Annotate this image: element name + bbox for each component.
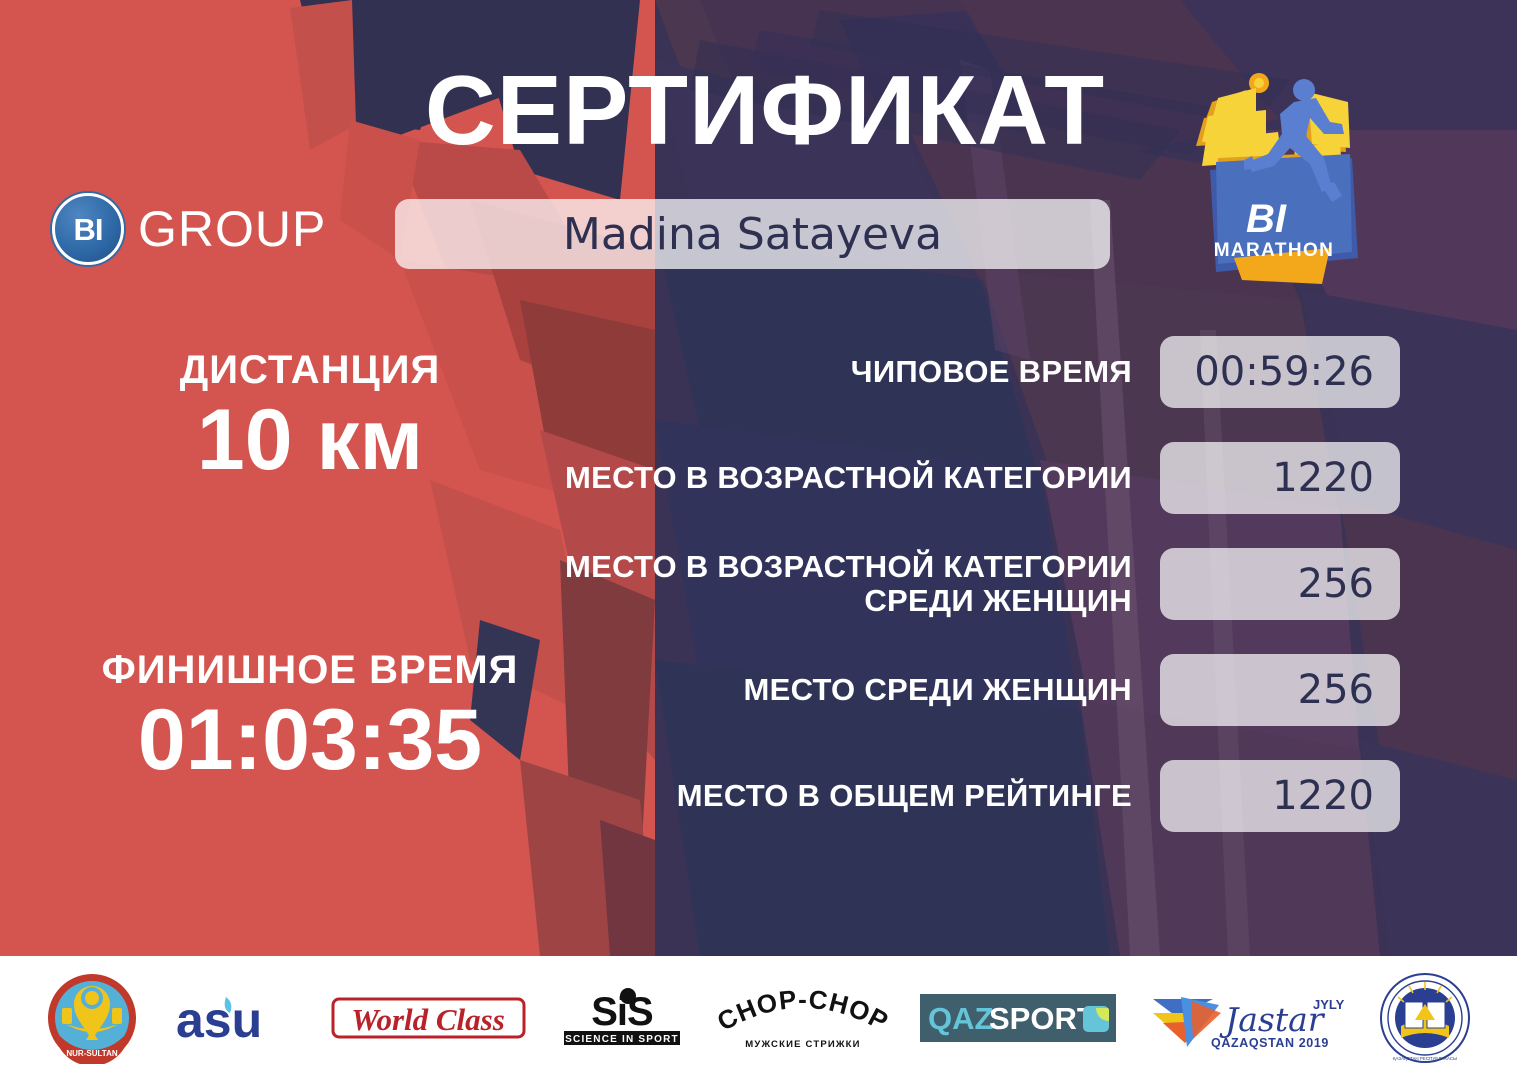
sponsor-nur-sultan-text: NUR-SULTAN [66, 1049, 117, 1058]
sponsor-qazsport-qaz-text: QAZ [928, 1001, 994, 1036]
bi-badge-icon: BI [52, 193, 124, 265]
sponsor-asu-text: asu [176, 992, 262, 1048]
sponsor-chop-chop-subtext: МУЖСКИЕ СТРИЖКИ [745, 1039, 860, 1050]
stat-row-chip-time: ЧИПОВОЕ ВРЕМЯ 00:59:26 [520, 336, 1400, 408]
sponsor-logo-world-class: World Class [331, 991, 526, 1045]
bi-badge-label: BI [74, 214, 103, 245]
distance-block: ДИСТАНЦИЯ 10 км [60, 348, 560, 483]
sponsor-jyly-text: JYLY [1313, 997, 1345, 1012]
participant-name: Madina Satayeva [563, 209, 942, 260]
sponsor-logo-ministry-of-culture-and-sport: ҚАЗАҚСТАН РЕСПУБЛИКАСЫ [1379, 972, 1471, 1064]
sponsor-jastar-subtext: QAZAQSTAN 2019 [1211, 1036, 1329, 1050]
bi-group-word: GROUP [138, 200, 326, 258]
sponsor-ministry-text: ҚАЗАҚСТАН РЕСПУБЛИКАСЫ [1393, 1056, 1457, 1061]
certificate-card: BI GROUP СЕРТИФИКАТ Madina Satayeva [0, 0, 1517, 1080]
bi-marathon-bi-text: BI [1246, 197, 1287, 241]
stats-list: ЧИПОВОЕ ВРЕМЯ 00:59:26 МЕСТО В ВОЗРАСТНО… [520, 336, 1400, 832]
page-title: СЕРТИФИКАТ [395, 61, 1135, 159]
finish-time-block: ФИНИШНОЕ ВРЕМЯ 01:03:35 [60, 648, 560, 783]
stat-label: МЕСТО В ОБЩЕМ РЕЙТИНГЕ [520, 779, 1160, 813]
stat-value: 1220 [1272, 455, 1374, 501]
distance-label: ДИСТАНЦИЯ [60, 348, 560, 393]
sponsor-strip: NUR-SULTAN asu World Class SiS SC [0, 956, 1517, 1080]
stat-value-pill: 1220 [1160, 760, 1400, 832]
participant-name-pill: Madina Satayeva [395, 199, 1110, 269]
stat-value: 00:59:26 [1194, 349, 1374, 395]
sponsor-logo-qazsport: QAZ SPORT [920, 994, 1116, 1042]
stat-label: МЕСТО В ВОЗРАСТНОЙ КАТЕГОРИИ [520, 461, 1160, 495]
stat-value-pill: 256 [1160, 548, 1400, 620]
stat-row-overall-place: МЕСТО В ОБЩЕМ РЕЙТИНГЕ 1220 [520, 760, 1400, 832]
stat-label: МЕСТО СРЕДИ ЖЕНЩИН [520, 673, 1160, 707]
bi-marathon-logo: BI MARATHON [1182, 62, 1372, 297]
stat-value: 1220 [1272, 773, 1374, 819]
stat-value-pill: 1220 [1160, 442, 1400, 514]
sponsor-logo-jastar-jyly: Jastar JYLY QAZAQSTAN 2019 [1147, 983, 1347, 1053]
sponsor-chop-chop-text: CHOP-CHOP [718, 985, 888, 1037]
stat-row-women-place: МЕСТО СРЕДИ ЖЕНЩИН 256 [520, 654, 1400, 726]
sponsor-jastar-text: Jastar [1219, 1000, 1326, 1039]
sponsor-qazsport-sport-text: SPORT [989, 1001, 1096, 1036]
sponsor-logo-chop-chop: CHOP-CHOP МУЖСКИЕ СТРИЖКИ [718, 985, 888, 1051]
sponsor-logo-asu: asu [170, 987, 300, 1049]
stat-row-age-category-place: МЕСТО В ВОЗРАСТНОЙ КАТЕГОРИИ 1220 [520, 442, 1400, 514]
bi-group-logo: BI GROUP [52, 193, 326, 265]
sponsor-sis-subtext: SCIENCE IN SPORT [565, 1034, 679, 1045]
distance-value: 10 км [60, 397, 560, 483]
stat-value-pill: 00:59:26 [1160, 336, 1400, 408]
stat-value: 256 [1298, 667, 1374, 713]
sponsor-world-class-text: World Class [352, 1002, 506, 1037]
sponsor-logo-nur-sultan: NUR-SULTAN [46, 972, 138, 1064]
stat-row-age-category-women-place: МЕСТО В ВОЗРАСТНОЙ КАТЕГОРИИ СРЕДИ ЖЕНЩИ… [520, 548, 1400, 620]
stat-value: 256 [1298, 561, 1374, 607]
stat-label: МЕСТО В ВОЗРАСТНОЙ КАТЕГОРИИ СРЕДИ ЖЕНЩИ… [520, 550, 1160, 618]
sponsor-logo-sis: SiS SCIENCE IN SPORT [558, 987, 686, 1049]
finish-time-label: ФИНИШНОЕ ВРЕМЯ [60, 648, 560, 693]
finish-time-value: 01:03:35 [60, 697, 560, 783]
stat-label: ЧИПОВОЕ ВРЕМЯ [520, 355, 1160, 389]
bi-marathon-word-text: MARATHON [1214, 240, 1335, 261]
stat-value-pill: 256 [1160, 654, 1400, 726]
